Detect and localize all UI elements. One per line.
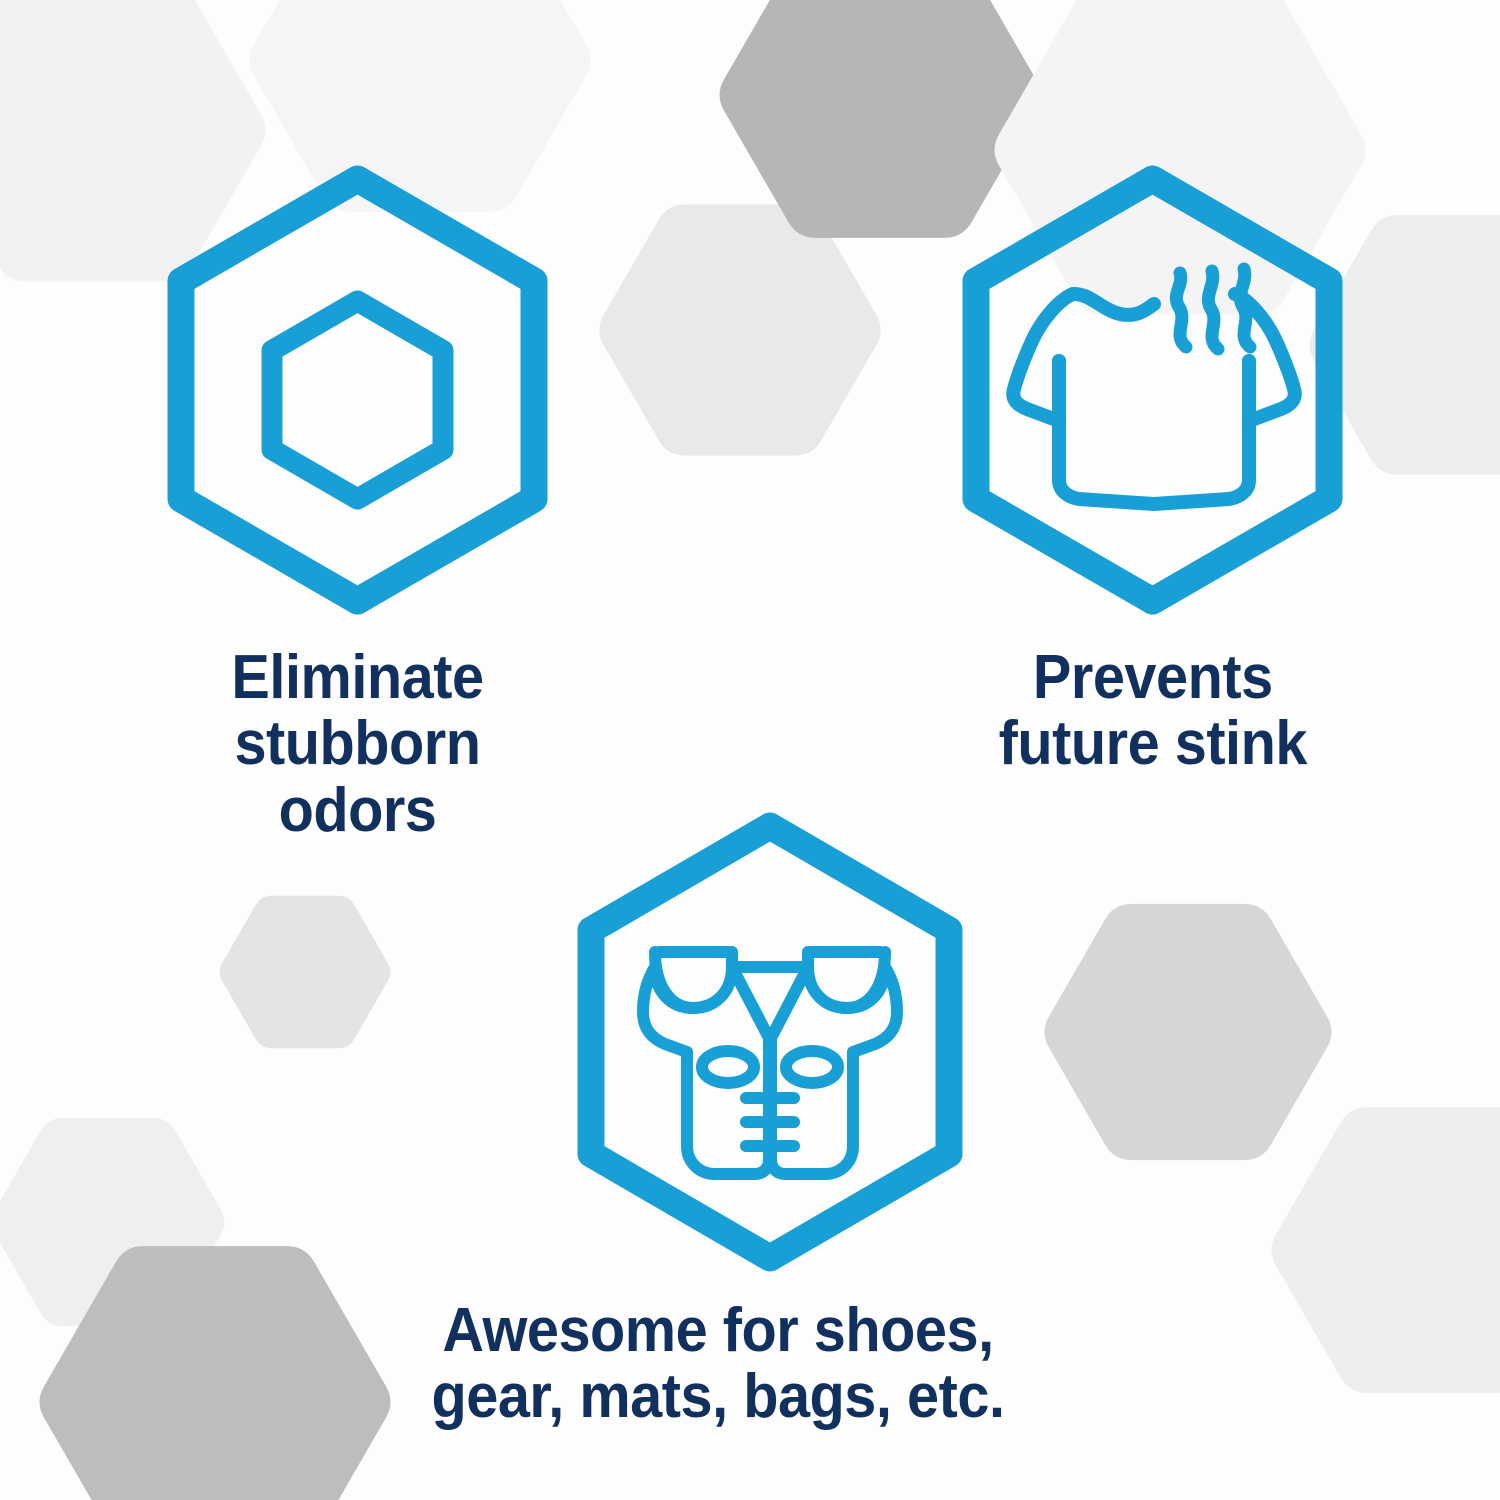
tshirt-stink-lines-icon xyxy=(950,165,1355,615)
hex-right-lower-faint xyxy=(1272,1107,1500,1393)
athletic-vest-icon xyxy=(565,812,975,1272)
feature-awesome-for-gear: Awesome for shoes, gear, mats, bags, etc… xyxy=(565,812,975,1431)
feature-awesome-label: Awesome for shoes, gear, mats, bags, etc… xyxy=(429,1298,1006,1431)
feature-prevents-stink: Prevents future stink xyxy=(950,165,1355,778)
feature-eliminate-odors: Eliminate stubborn odors xyxy=(155,165,560,844)
hex-right-mid-gray xyxy=(1044,904,1331,1160)
feature-prevents-label: Prevents future stink xyxy=(998,645,1306,778)
hexagon-in-hexagon-icon xyxy=(155,165,560,615)
hex-top-mid-light xyxy=(599,204,880,455)
infographic-canvas: Eliminate stubborn odors Prevents futur xyxy=(0,0,1500,1500)
feature-eliminate-label: Eliminate stubborn odors xyxy=(169,645,546,844)
hex-left-mid-light xyxy=(220,896,391,1048)
